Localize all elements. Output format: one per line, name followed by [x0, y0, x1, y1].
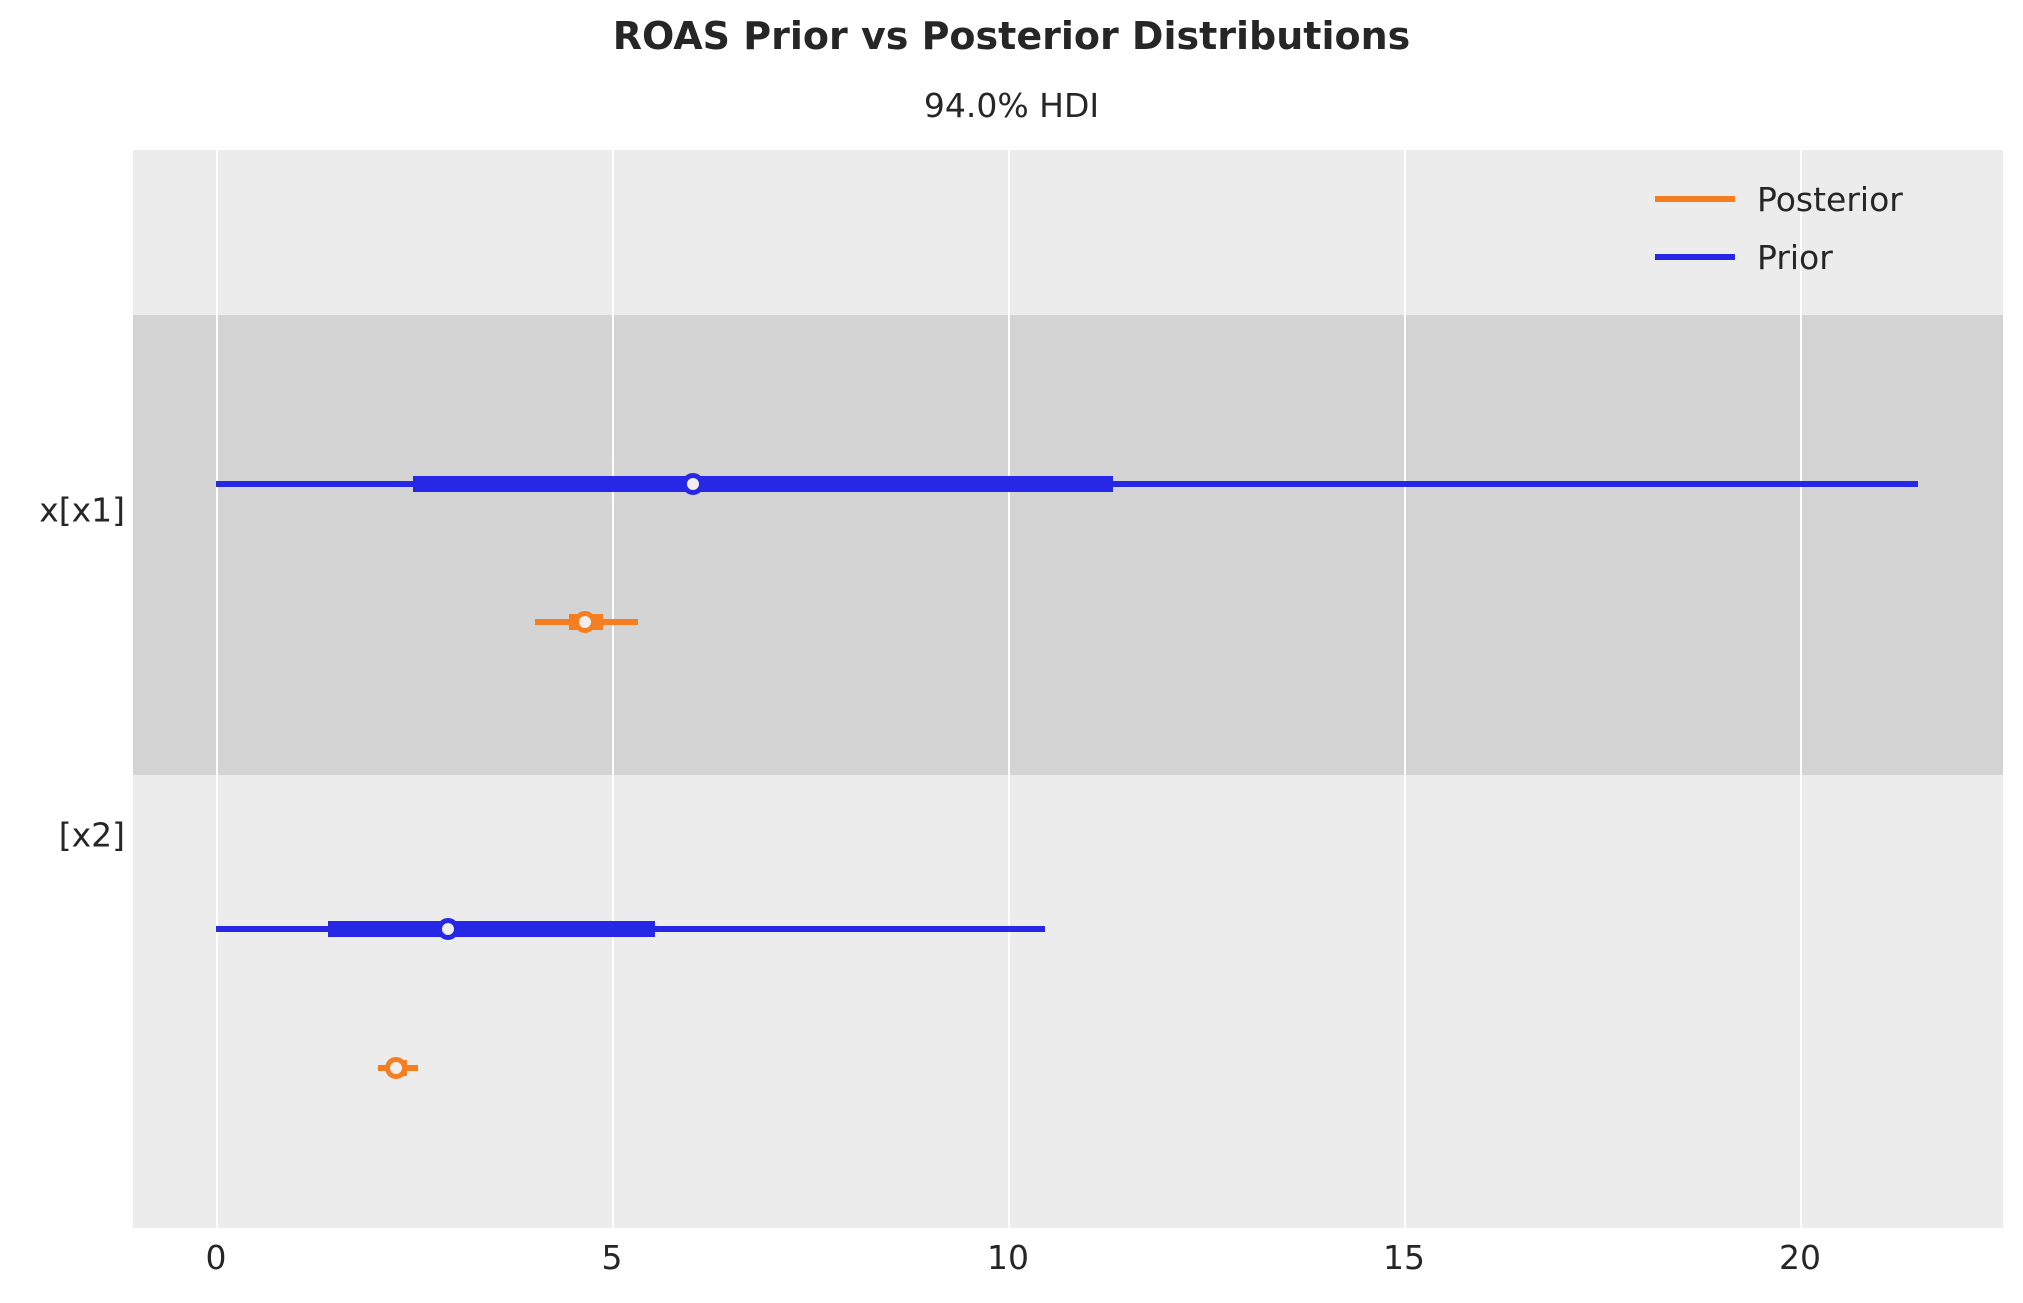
figure-canvas: ROAS Prior vs Posterior Distributions 94…	[0, 0, 2023, 1303]
row-band-x1	[133, 315, 2003, 775]
gridline-20	[1800, 150, 1802, 1228]
y-axis-label-x1: x[x1]	[39, 491, 125, 530]
x-tick-15: 15	[1383, 1238, 1425, 1277]
prior-hdi50-x2	[328, 921, 655, 937]
legend-item-posterior[interactable]: Posterior	[1655, 170, 1975, 228]
gridline-15	[1404, 150, 1406, 1228]
legend-item-prior[interactable]: Prior	[1655, 228, 1975, 286]
legend-label-posterior: Posterior	[1757, 183, 1903, 216]
x-tick-0: 0	[206, 1238, 227, 1277]
x-tick-10: 10	[987, 1238, 1029, 1277]
chart-subtitle: 94.0% HDI	[0, 86, 2023, 125]
legend: Posterior Prior	[1655, 170, 1975, 286]
posterior-point-x2	[385, 1057, 407, 1079]
legend-swatch-posterior	[1655, 196, 1735, 202]
legend-swatch-prior	[1655, 254, 1735, 260]
gridline-5	[612, 150, 614, 1228]
prior-hdi50-x1	[413, 476, 1113, 492]
posterior-point-x1	[574, 611, 596, 633]
gridline-10	[1008, 150, 1010, 1228]
gridline-0	[216, 150, 218, 1228]
chart-title: ROAS Prior vs Posterior Distributions	[0, 14, 2023, 58]
legend-label-prior: Prior	[1757, 241, 1833, 274]
prior-point-x2	[437, 918, 459, 940]
prior-point-x1	[682, 473, 704, 495]
y-axis-label-x2: [x2]	[59, 816, 125, 855]
plot-area	[133, 150, 2003, 1228]
x-tick-5: 5	[602, 1238, 623, 1277]
x-tick-20: 20	[1779, 1238, 1821, 1277]
